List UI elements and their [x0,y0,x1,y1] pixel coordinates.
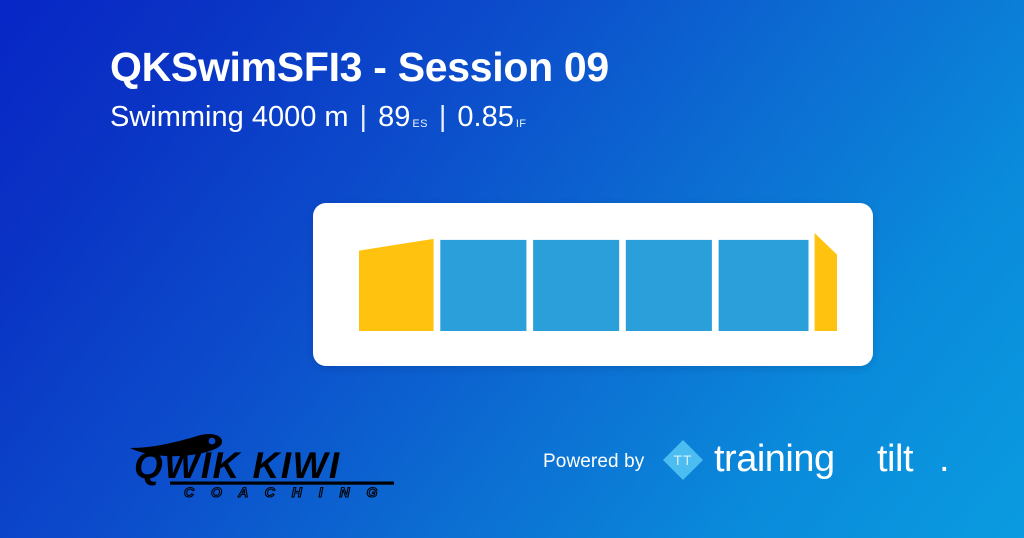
metric-es-unit: ES [412,118,427,131]
training-tilt-diamond-icon: TT [660,437,706,488]
training-tilt-wordmark: training tilt . [714,437,962,488]
qwik-kiwi-logo: QWIK KIWI C O A C H I N G [128,430,408,498]
wordmark-training-text: training [714,438,835,480]
chart-bar-set-3 [626,240,712,331]
session-summary-poster: QKSwimSFI3 - Session 09 Swimming 4000 m … [0,0,1024,538]
tt-diamond-graphic: TT [660,437,706,483]
sport-label: Swimming [110,101,244,134]
wordmark-dot-text: . [939,438,950,480]
metric-if: 0.85 IF [457,101,526,134]
session-summary-line: Swimming 4000 m | 89 ES | 0.85 IF [110,101,930,134]
metric-es: 89 ES [378,101,428,134]
kiwi-eye-icon [209,438,216,445]
tt-initials-text: TT [674,452,693,468]
page-title: QKSwimSFI3 - Session 09 [110,44,930,92]
workout-bar-chart [359,233,837,331]
metric-if-value: 0.85 [457,101,513,134]
wordmark-tilt-text: tilt [877,438,914,480]
chart-bar-cooldown [815,233,837,331]
subtitle-separator-1: | [349,101,379,134]
chart-bar-warmup [359,239,434,331]
subtitle-separator-2: | [428,101,458,134]
chart-bar-set-1 [440,240,526,331]
qwik-kiwi-wordmark-text: QWIK KIWI [134,445,341,486]
chart-bar-set-2 [533,240,619,331]
metric-if-unit: IF [516,118,527,131]
workout-chart-plot [359,233,837,331]
powered-by-block: Powered by TT training tilt . [543,438,962,486]
footer: QWIK KIWI C O A C H I N G Powered by TT … [0,424,1024,506]
chart-bar-set-4 [719,240,809,331]
coaching-wordmark-text: C O A C H I N G [184,484,384,498]
qwik-kiwi-logo-graphic: QWIK KIWI C O A C H I N G [128,430,408,498]
header: QKSwimSFI3 - Session 09 Swimming 4000 m … [110,44,930,134]
distance-label: 4000 m [252,101,349,134]
training-tilt-wordmark-graphic: training tilt . [714,437,962,483]
metric-es-value: 89 [378,101,410,134]
qwik-kiwi-wordmark: QWIK KIWI [134,445,394,486]
powered-by-label: Powered by [543,451,644,473]
workout-chart-card [313,203,873,366]
